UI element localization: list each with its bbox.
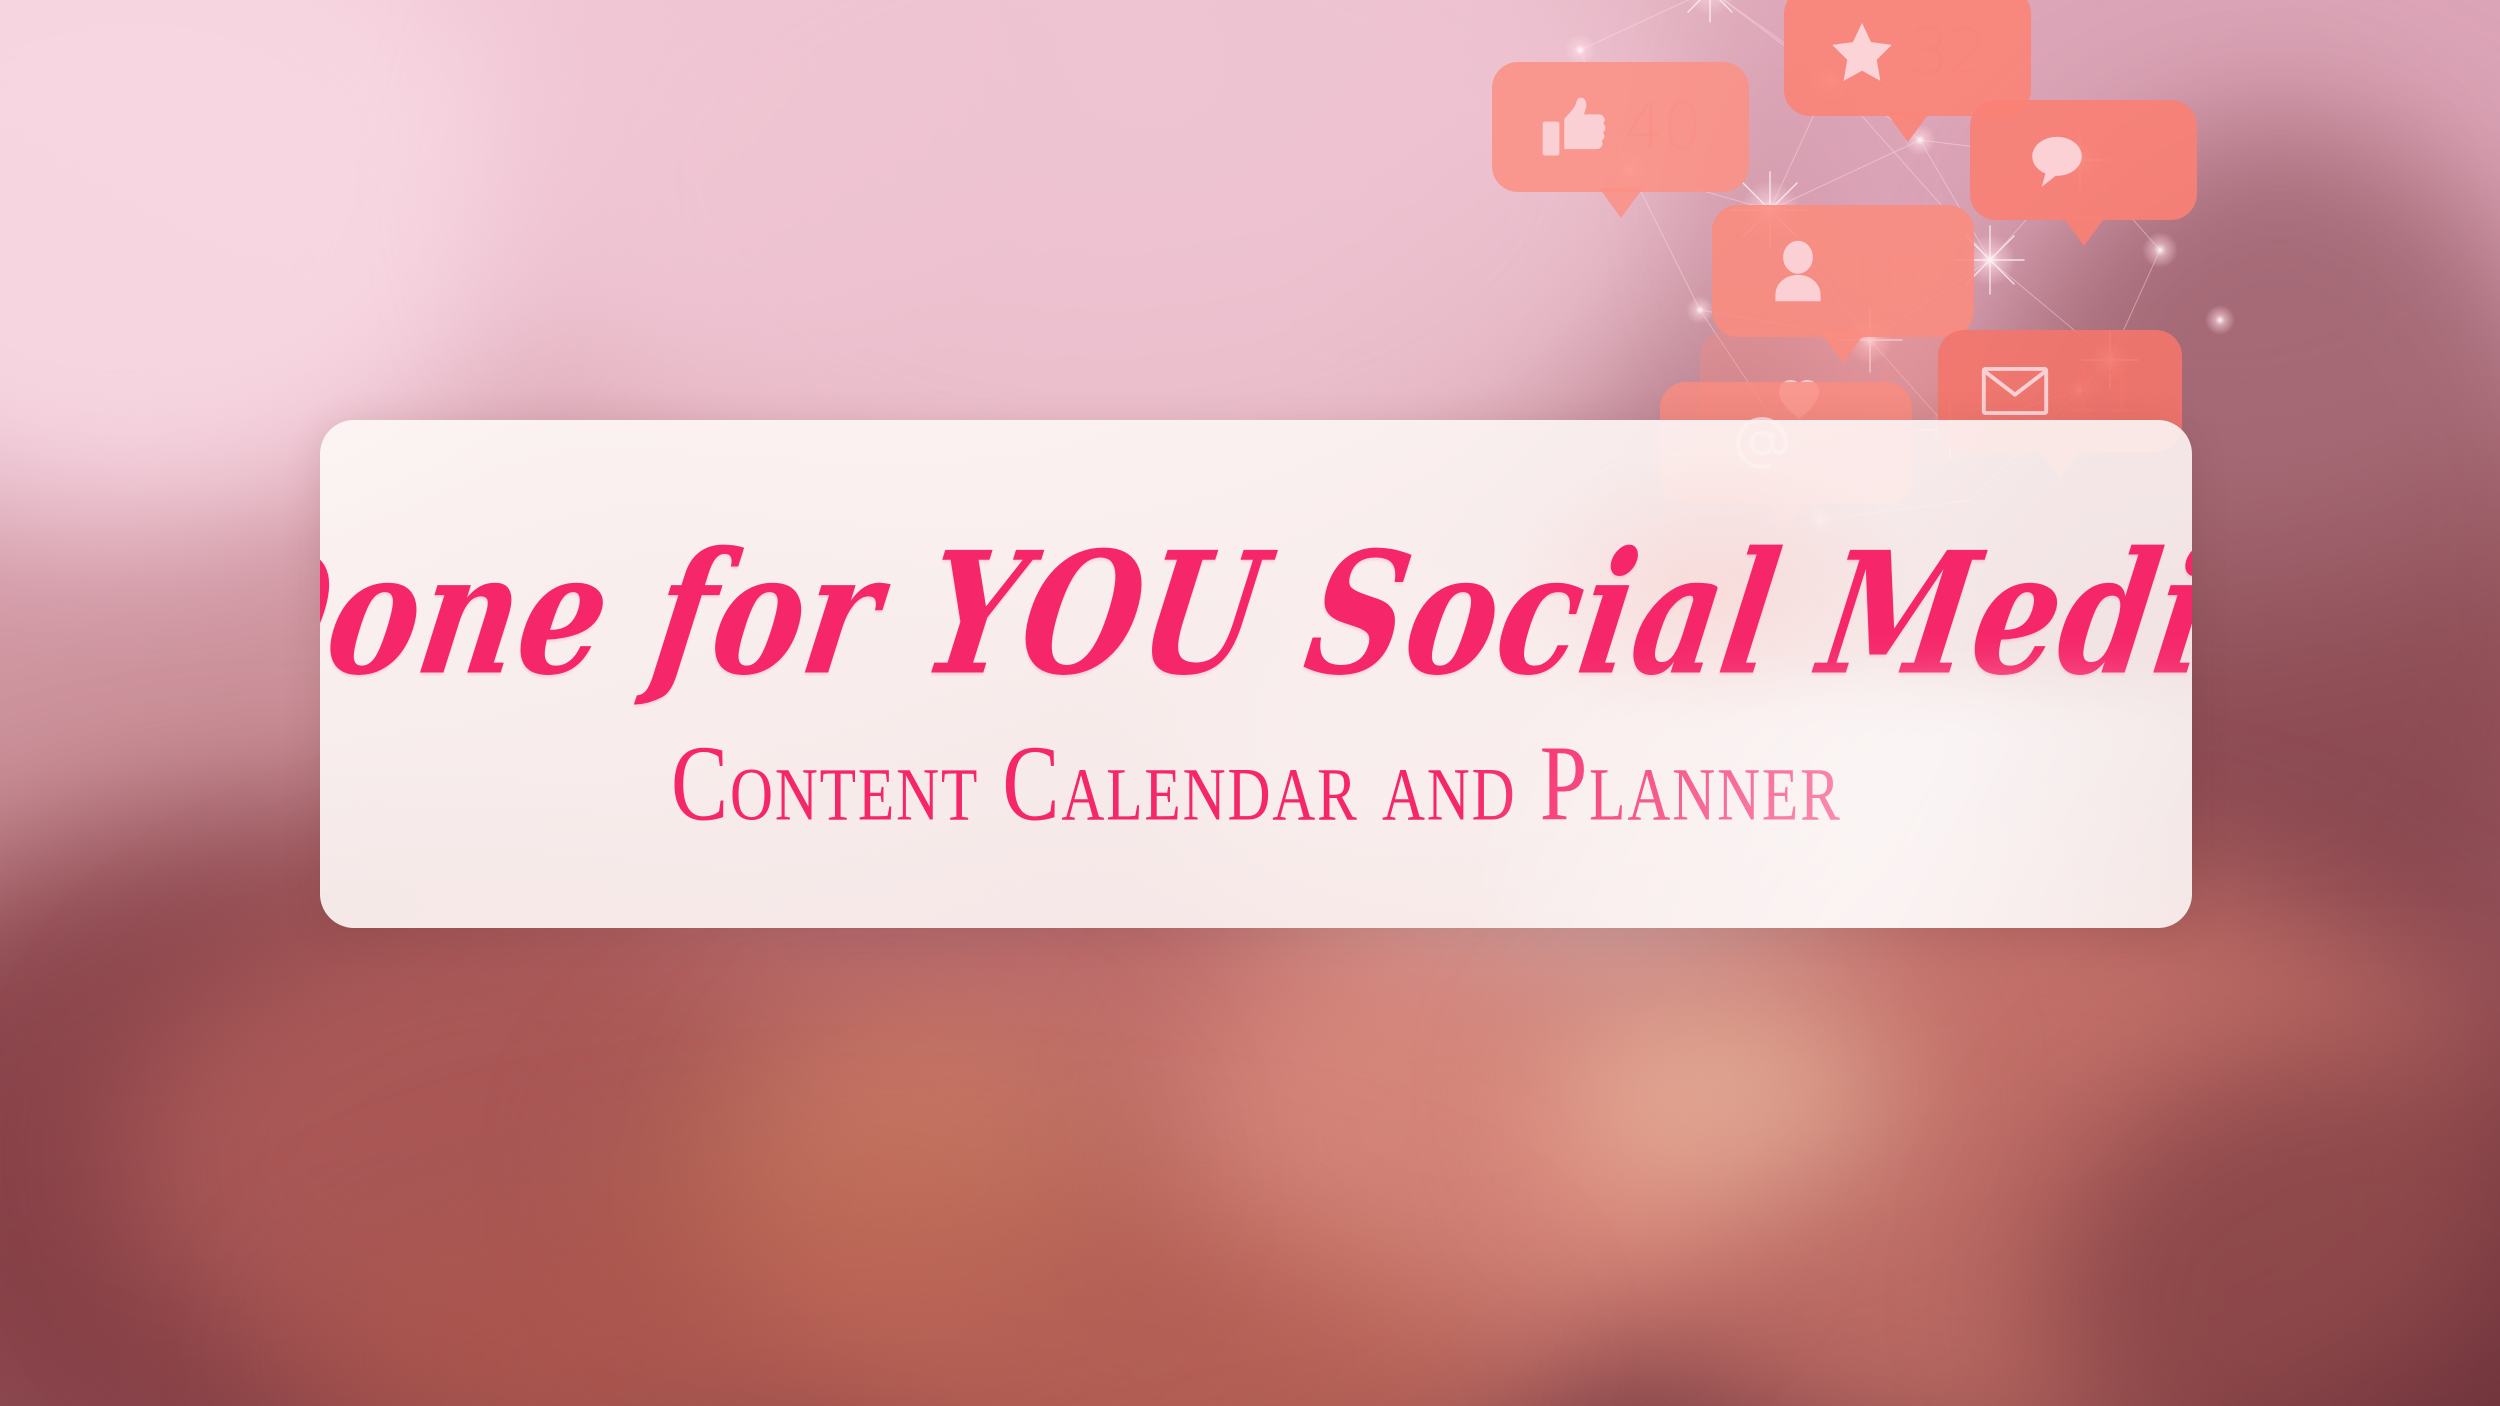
envelope-icon xyxy=(1981,365,2049,417)
bubble-tail xyxy=(2062,216,2106,246)
notification-bubble-favorites[interactable]: 32 xyxy=(1784,0,2031,116)
star-icon xyxy=(1828,19,1896,85)
bubble-tail xyxy=(1599,188,1643,218)
notification-count: 5 xyxy=(2103,129,2141,191)
speech-bubble-icon xyxy=(2025,131,2089,189)
bubble-tail xyxy=(1886,112,1930,142)
person-icon xyxy=(1767,238,1829,304)
notification-bubble-followers[interactable]: 18 xyxy=(1712,205,1974,337)
title-card: Done for YOU Social Media Content Calend… xyxy=(320,420,2192,928)
title-card-content: Done for YOU Social Media Content Calend… xyxy=(320,519,2192,829)
promo-banner: 25 9 40 32 xyxy=(0,0,2500,1406)
notification-count: 32 xyxy=(1910,21,1987,83)
notification-count: 11 xyxy=(2063,360,2140,422)
page-subtitle: Content Calendar and Planner xyxy=(671,729,1842,838)
notification-count: 18 xyxy=(1843,240,1920,302)
notification-bubble-comments[interactable]: 5 xyxy=(1970,100,2197,220)
bubble-tail xyxy=(1821,333,1865,363)
thumbs-up-icon xyxy=(1540,94,1610,160)
notification-count: 40 xyxy=(1624,96,1701,158)
page-title: Done for YOU Social Media xyxy=(320,530,2192,698)
notification-bubble-likes[interactable]: 40 xyxy=(1492,62,1749,192)
